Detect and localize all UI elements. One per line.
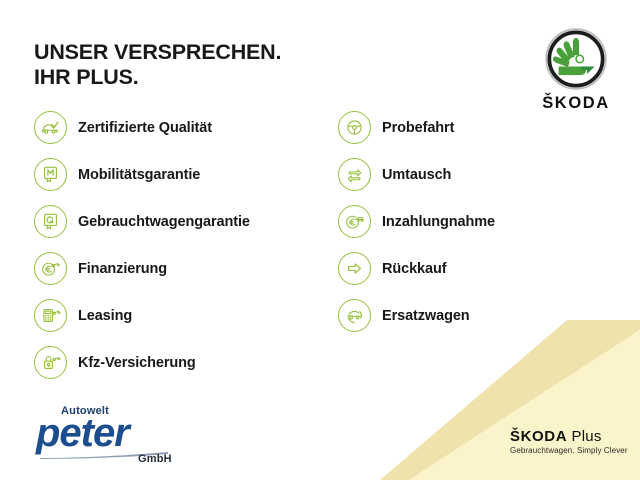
feature-label: Kfz-Versicherung	[78, 355, 196, 371]
car-check-icon	[34, 111, 67, 144]
corner-band-dark	[380, 320, 640, 480]
skoda-winged-arrow-icon	[545, 28, 607, 90]
skoda-brand-logo: ŠKODA	[527, 28, 625, 113]
feature-label: Probefahrt	[382, 120, 454, 136]
feature-item-ersatzwagen[interactable]: Ersatzwagen	[338, 292, 495, 339]
feature-item-leasing[interactable]: Leasing	[34, 292, 250, 339]
feature-item-zertifizierte-qualitaet[interactable]: Zertifizierte Qualität	[34, 104, 250, 151]
feature-label: Finanzierung	[78, 261, 167, 277]
feature-list-right: Probefahrt Umtausch	[338, 104, 495, 339]
feature-label: Zertifizierte Qualität	[78, 120, 212, 136]
car-refresh-icon	[338, 299, 371, 332]
feature-label: Inzahlungnahme	[382, 214, 495, 230]
page-title: UNSER VERSPRECHEN. IHR PLUS.	[34, 40, 281, 90]
feature-label: Ersatzwagen	[382, 308, 470, 324]
feature-item-inzahlungnahme[interactable]: Inzahlungnahme	[338, 198, 495, 245]
skoda-plus-suffix: Plus	[567, 428, 601, 445]
certificate-m-icon	[34, 158, 67, 191]
skoda-plus-tagline: Gebrauchtwagen. Simply Clever	[510, 446, 630, 455]
arrow-right-icon	[338, 252, 371, 285]
dealer-logo-main-text: peter	[36, 413, 129, 453]
feature-item-kfz-versicherung[interactable]: Kfz-Versicherung	[34, 339, 250, 386]
corner-band-light	[380, 320, 640, 480]
dealer-logo: Autowelt peter GmbH	[28, 405, 188, 467]
feature-label: Gebrauchtwagengarantie	[78, 214, 250, 230]
promo-banner: UNSER VERSPRECHEN. IHR PLUS. ŠKODA	[0, 0, 640, 480]
feature-label: Rückkauf	[382, 261, 446, 277]
exchange-arrows-icon	[338, 158, 371, 191]
feature-item-umtausch[interactable]: Umtausch	[338, 151, 495, 198]
skoda-plus-title: ŠKODA Plus	[510, 428, 630, 445]
yellow-corner-decoration	[380, 320, 640, 480]
feature-item-finanzierung[interactable]: Finanzierung	[34, 245, 250, 292]
steering-wheel-icon	[338, 111, 371, 144]
lock-key-icon	[34, 346, 67, 379]
euro-coin-car-icon	[338, 205, 371, 238]
feature-item-gebrauchtwagengarantie[interactable]: Gebrauchtwagengarantie	[34, 198, 250, 245]
feature-label: Leasing	[78, 308, 132, 324]
feature-label: Umtausch	[382, 167, 451, 183]
euro-coin-key-icon	[34, 252, 67, 285]
feature-item-mobilitaetsgarantie[interactable]: Mobilitätsgarantie	[34, 151, 250, 198]
feature-item-rueckkauf[interactable]: Rückkauf	[338, 245, 495, 292]
feature-list-left: Zertifizierte Qualität Mobilitätsgaranti…	[34, 104, 250, 386]
skoda-plus-lockup: ŠKODA Plus Gebrauchtwagen. Simply Clever	[510, 428, 630, 455]
dealer-logo-suffix: GmbH	[138, 453, 172, 465]
feature-label: Mobilitätsgarantie	[78, 167, 200, 183]
calculator-key-icon	[34, 299, 67, 332]
feature-item-probefahrt[interactable]: Probefahrt	[338, 104, 495, 151]
skoda-wordmark: ŠKODA	[527, 94, 625, 113]
skoda-plus-brand: ŠKODA	[510, 428, 567, 445]
certificate-g-icon	[34, 205, 67, 238]
